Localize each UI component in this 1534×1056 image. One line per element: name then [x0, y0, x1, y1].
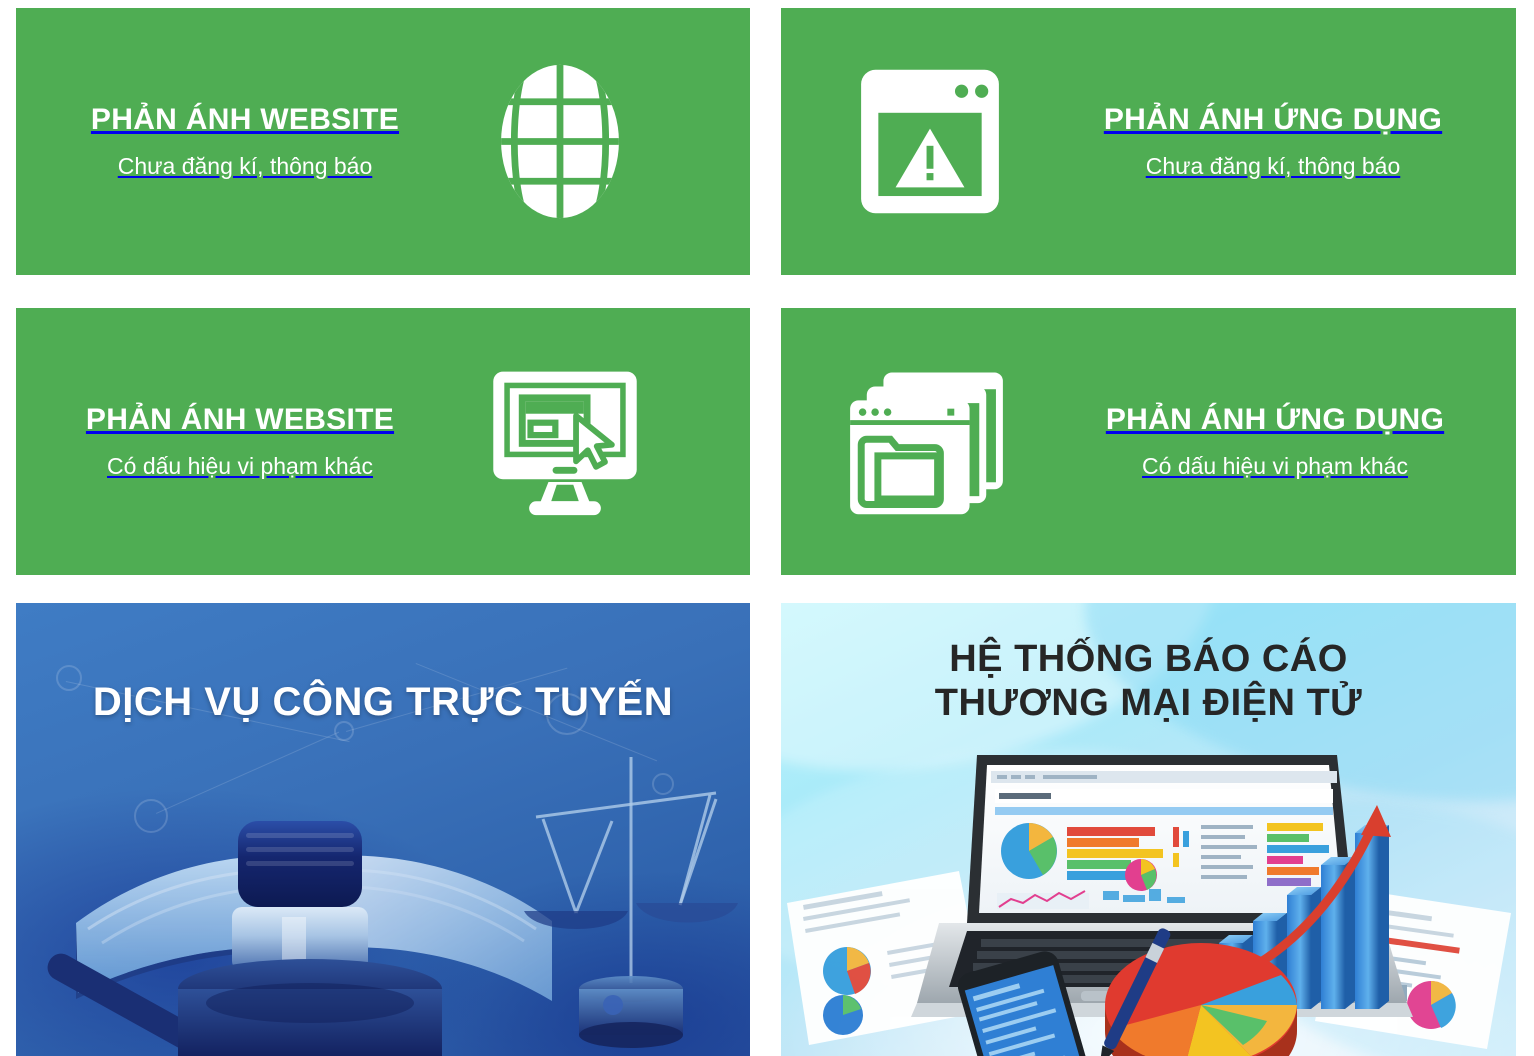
banner-title-line: DỊCH VỤ CÔNG TRỰC TUYẾN — [16, 679, 750, 725]
gavel-book-scales-illustration — [16, 753, 750, 1056]
swoosh-decoration-4 — [1174, 752, 1516, 1056]
card-subtitle: Có dấu hiệu vi phạm khác — [107, 454, 373, 479]
card-title: PHẢN ÁNH WEBSITE — [91, 103, 399, 136]
card-phan-anh-ung-dung-chua-dang-ki[interactable]: PHẢN ÁNH ỨNG DỤNG Chưa đăng kí, thông bá… — [781, 8, 1516, 275]
banner-title: HỆ THỐNG BÁO CÁO THƯƠNG MẠI ĐIỆN TỬ — [781, 637, 1516, 725]
banner-title-line: HỆ THỐNG BÁO CÁO — [781, 637, 1516, 681]
card-subtitle: Chưa đăng kí, thông báo — [1146, 154, 1401, 179]
card-title: PHẢN ÁNH WEBSITE — [86, 403, 394, 436]
globe-icon — [460, 59, 660, 224]
card-text-block: PHẢN ÁNH ỨNG DỤNG Chưa đăng kí, thông bá… — [1063, 103, 1483, 179]
card-phan-anh-website-chua-dang-ki[interactable]: PHẢN ÁNH WEBSITE Chưa đăng kí, thông báo — [16, 8, 750, 275]
card-phan-anh-website-vi-pham-khac[interactable]: PHẢN ÁNH WEBSITE Có dấu hiệu vi phạm khá… — [16, 308, 750, 575]
banner-he-thong-bao-cao-tmdt[interactable]: HỆ THỐNG BÁO CÁO THƯƠNG MẠI ĐIỆN TỬ — [781, 603, 1516, 1056]
card-title: PHẢN ÁNH ỨNG DỤNG — [1106, 403, 1444, 436]
banner-title: DỊCH VỤ CÔNG TRỰC TUYẾN — [16, 679, 750, 725]
card-text-block: PHẢN ÁNH ỨNG DỤNG Có dấu hiệu vi phạm kh… — [1065, 403, 1485, 479]
card-title: PHẢN ÁNH ỨNG DỤNG — [1104, 103, 1442, 136]
network-decoration — [16, 603, 750, 1056]
card-subtitle: Có dấu hiệu vi phạm khác — [1142, 454, 1408, 479]
service-links-grid: PHẢN ÁNH WEBSITE Chưa đăng kí, thông báo — [0, 0, 1534, 1056]
swoosh-decoration-3 — [781, 718, 1254, 1008]
stacked-windows-folder-icon — [811, 367, 1041, 517]
banner-dich-vu-cong-truc-tuyen[interactable]: DỊCH VỤ CÔNG TRỰC TUYẾN — [16, 603, 750, 1056]
banner-title-line: THƯƠNG MẠI ĐIỆN TỬ — [781, 681, 1516, 725]
card-text-block: PHẢN ÁNH WEBSITE Chưa đăng kí, thông báo — [30, 103, 460, 179]
browser-window-warning-icon — [815, 64, 1045, 219]
card-phan-anh-ung-dung-vi-pham-khac[interactable]: PHẢN ÁNH ỨNG DỤNG Có dấu hiệu vi phạm kh… — [781, 308, 1516, 575]
desktop-monitor-cursor-icon — [450, 366, 680, 518]
card-subtitle: Chưa đăng kí, thông báo — [118, 154, 373, 179]
card-text-block: PHẢN ÁNH WEBSITE Có dấu hiệu vi phạm khá… — [30, 403, 450, 479]
laptop-charts-reports-illustration — [781, 753, 1516, 1056]
